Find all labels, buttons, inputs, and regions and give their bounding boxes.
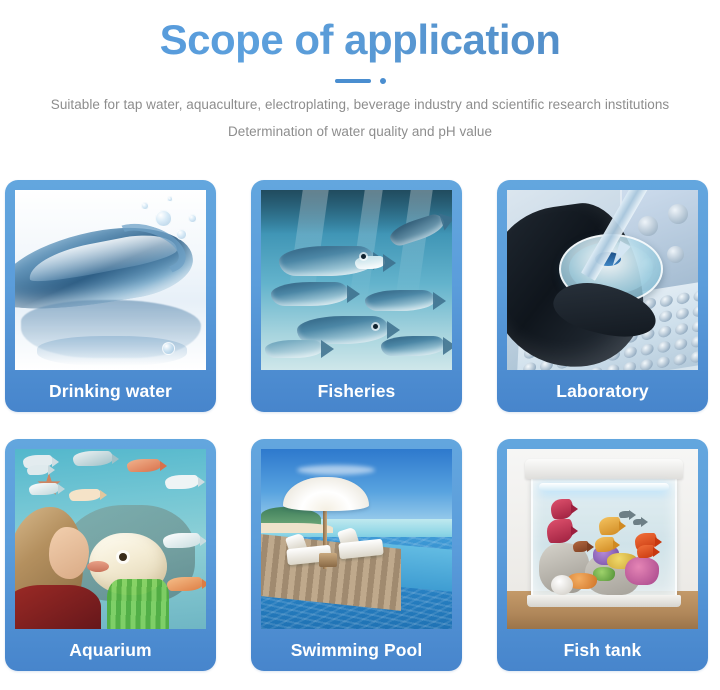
fish-icon xyxy=(595,537,615,552)
fish-icon xyxy=(365,290,435,311)
fish-icon xyxy=(29,483,59,495)
subtitle-line-2: Determination of water quality and pH va… xyxy=(0,119,720,144)
application-cards-grid: Drinking water Fisheries xyxy=(5,180,715,671)
subtitle-line-1: Suitable for tap water, aquaculture, ele… xyxy=(0,92,720,117)
card-aquarium[interactable]: Aquarium xyxy=(5,439,216,671)
bubble-icon xyxy=(162,342,175,355)
fish-icon xyxy=(551,499,573,519)
vial-hole-icon xyxy=(667,246,684,263)
title-divider xyxy=(0,70,720,92)
fish-icon xyxy=(619,511,631,518)
cloud-shape xyxy=(297,465,375,475)
fish-icon xyxy=(127,459,161,472)
woman-face-shape xyxy=(49,527,89,579)
card-swimming-pool[interactable]: Swimming Pool xyxy=(251,439,462,671)
card-label: Laboratory xyxy=(507,370,698,412)
water-splash-photo xyxy=(15,190,206,370)
fish-icon xyxy=(637,545,655,558)
shell-icon xyxy=(551,575,573,595)
microplate-well-icon xyxy=(675,322,688,335)
fish-icon xyxy=(167,577,203,591)
card-label: Fish tank xyxy=(507,629,698,671)
tank-base-shape xyxy=(527,595,681,607)
page-title: Scope of application xyxy=(0,14,720,66)
tank-hood-shape xyxy=(525,459,683,479)
bubble-icon xyxy=(188,214,197,223)
microplate-well-icon xyxy=(624,346,637,359)
fish-icon xyxy=(163,533,201,548)
fish-icon xyxy=(265,340,323,358)
microplate-well-icon xyxy=(523,362,536,370)
fish-icon xyxy=(633,519,643,525)
woman-red-coat-shape xyxy=(15,585,101,629)
microplate-well-icon xyxy=(676,292,689,305)
microplate-well-icon xyxy=(658,325,671,338)
underwater-fish-school-photo xyxy=(261,190,452,370)
microplate-well-icon xyxy=(692,320,698,333)
card-label: Aquarium xyxy=(15,629,206,671)
bubble-icon xyxy=(176,229,187,240)
card-fisheries[interactable]: Fisheries xyxy=(251,180,462,412)
microplate-well-icon xyxy=(676,307,689,320)
card-label: Drinking water xyxy=(15,370,206,412)
microplate-well-icon xyxy=(606,364,619,370)
page-header: Scope of application Suitable for tap wa… xyxy=(0,0,720,144)
bubble-icon xyxy=(141,202,149,210)
vial-hole-icon xyxy=(668,204,688,224)
fish-mouth-shape xyxy=(87,561,109,572)
microplate-well-icon xyxy=(660,294,673,307)
infinity-pool-umbrella-loungers-photo xyxy=(261,449,452,629)
card-fish-tank[interactable]: Fish tank xyxy=(497,439,708,671)
microplate-well-icon xyxy=(640,358,653,370)
divider-dot-icon xyxy=(380,78,386,84)
bubble-icon xyxy=(167,196,173,202)
card-label: Fisheries xyxy=(261,370,452,412)
microplate-well-icon xyxy=(673,353,686,366)
home-aquarium-tank-photo xyxy=(507,449,698,629)
card-laboratory[interactable]: Laboratory xyxy=(497,180,708,412)
microplate-well-icon xyxy=(623,361,636,370)
bubble-icon xyxy=(155,210,172,227)
fish-icon xyxy=(271,282,349,306)
microplate-well-icon xyxy=(657,340,670,353)
microplate-well-icon xyxy=(691,335,698,348)
card-drinking-water[interactable]: Drinking water xyxy=(5,180,216,412)
microplate-well-icon xyxy=(572,369,585,370)
fish-icon xyxy=(355,256,385,269)
fish-icon xyxy=(27,465,49,475)
pink-coral-shape xyxy=(625,557,659,585)
microplate-well-icon xyxy=(589,366,602,370)
fish-icon xyxy=(547,519,573,543)
gloved-hand-petri-dish-pipette-photo xyxy=(507,190,698,370)
divider-bar-icon xyxy=(335,79,371,83)
fish-icon xyxy=(573,541,589,552)
vial-hole-icon xyxy=(638,216,658,236)
microplate-well-icon xyxy=(640,343,653,356)
fish-icon xyxy=(165,475,199,489)
microplate-well-icon xyxy=(674,338,687,351)
green-seaweed-shape xyxy=(107,579,169,629)
microplate-well-icon xyxy=(659,310,672,323)
microplate-well-icon xyxy=(692,304,698,317)
fish-icon xyxy=(381,336,445,356)
fish-icon xyxy=(73,451,113,466)
tank-light-tube-icon xyxy=(539,483,669,491)
fish-eye-icon xyxy=(361,254,366,259)
card-label: Swimming Pool xyxy=(261,629,452,671)
microplate-well-icon xyxy=(656,356,669,369)
fish-icon xyxy=(69,489,101,501)
fish-eye-icon xyxy=(119,553,127,561)
side-table-shape xyxy=(319,553,337,567)
fish-icon xyxy=(599,517,621,535)
microplate-well-icon xyxy=(690,350,698,363)
fish-eye-icon xyxy=(373,324,378,329)
woman-viewing-aquarium-photo xyxy=(15,449,206,629)
microplate-well-icon xyxy=(693,289,698,302)
